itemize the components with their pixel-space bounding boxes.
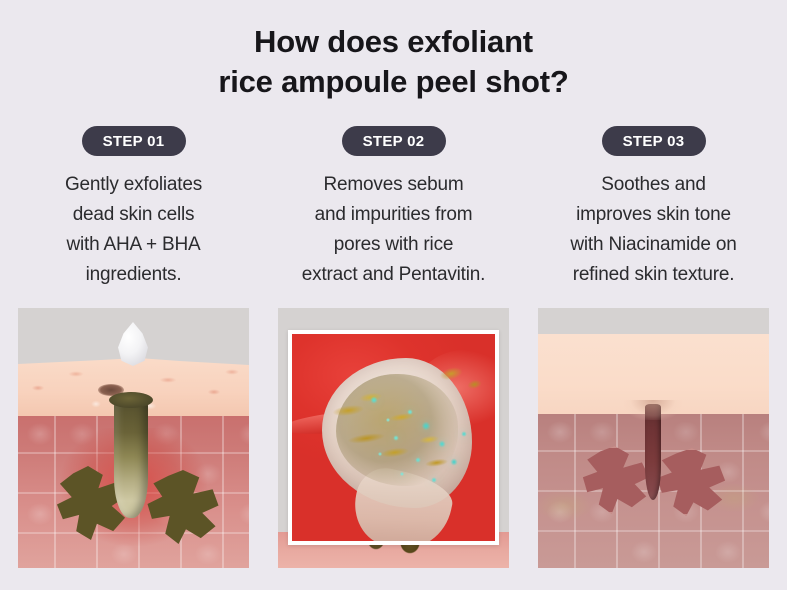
step-badge-03: STEP 03 [602,126,706,156]
steps-text-row: STEP 01 Gently exfoliates dead skin cell… [0,126,787,290]
caption-line: with Niacinamide on [538,230,769,260]
caption-line: dead skin cells [18,200,249,230]
caption-line: Gently exfoliates [18,170,249,200]
step-badge-02: STEP 02 [342,126,446,156]
active-particles [292,334,495,541]
caption-line: pores with rice [278,230,509,260]
step-caption-03: Soothes and improves skin tone with Niac… [538,170,769,290]
page-title: How does exfoliant rice ampoule peel sho… [0,22,787,102]
step-column-3: STEP 03 Soothes and improves skin tone w… [538,126,769,290]
caption-line: ingredients. [18,260,249,290]
caption-line: with AHA + BHA [18,230,249,260]
page-title-line-1: How does exfoliant [0,22,787,62]
caption-line: refined skin texture. [538,260,769,290]
step-column-2: STEP 02 Removes sebum and impurities fro… [278,126,509,290]
magnified-inset-frame [288,330,499,545]
infographic-page: How does exfoliant rice ampoule peel sho… [0,0,787,590]
page-title-line-2: rice ampoule peel shot? [0,62,787,102]
caption-line: and impurities from [278,200,509,230]
step-caption-02: Removes sebum and impurities from pores … [278,170,509,290]
caption-line: extract and Pentavitin. [278,260,509,290]
caption-line: Soothes and [538,170,769,200]
pore-opening [624,400,682,420]
steps-image-row [0,308,787,568]
step-caption-01: Gently exfoliates dead skin cells with A… [18,170,249,290]
step-image-02 [278,308,509,568]
sebum-plug [114,396,148,518]
caption-line: improves skin tone [538,200,769,230]
step-column-1: STEP 01 Gently exfoliates dead skin cell… [18,126,249,290]
step-image-03 [538,308,769,568]
caption-line: Removes sebum [278,170,509,200]
step-badge-01: STEP 01 [82,126,186,156]
step-image-01 [18,308,249,568]
